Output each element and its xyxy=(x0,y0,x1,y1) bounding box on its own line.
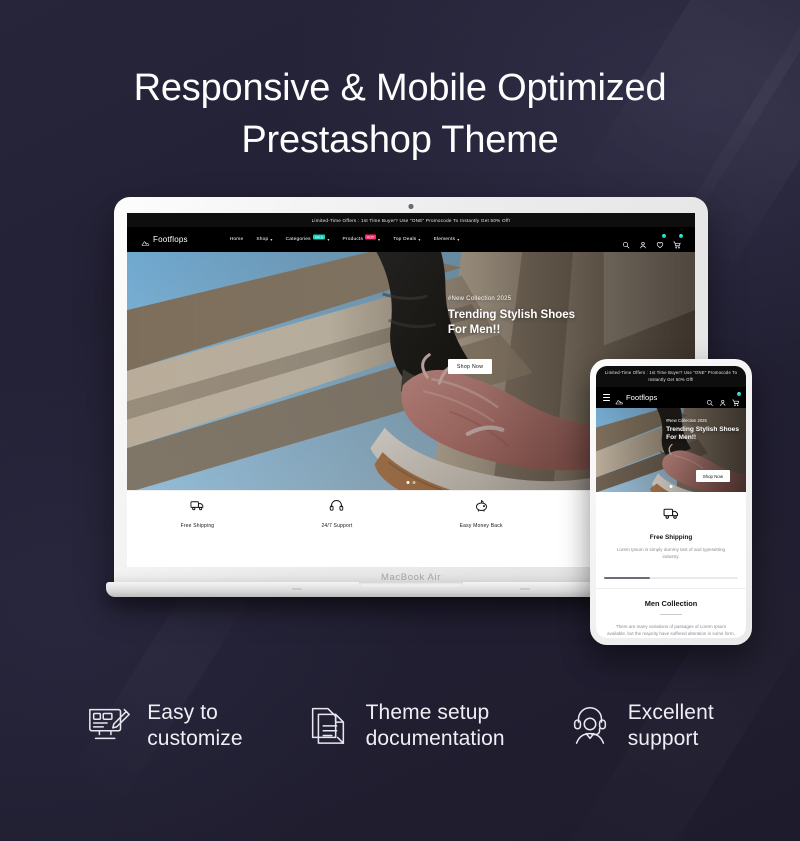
support-agent-icon xyxy=(567,701,613,752)
wishlist-heart-icon[interactable]: 0 xyxy=(656,236,664,244)
nav-label: Categories xyxy=(286,237,311,242)
mobile-slider-dot-active[interactable] xyxy=(670,485,673,488)
cart-count-badge: 0 xyxy=(737,392,741,396)
benefit-label-line-1: Excellent xyxy=(628,700,714,726)
mobile-shop-now-button[interactable]: Shop Now xyxy=(696,470,730,482)
headline-line-1: Responsive & Mobile Optimized xyxy=(0,62,800,114)
nav-badge-hot: Hot xyxy=(365,234,376,239)
cart-icon[interactable]: 0 xyxy=(673,236,681,244)
mobile-hero-title-line-2: For Men!! xyxy=(666,434,739,442)
feature-label: 24/7 Support xyxy=(321,523,352,529)
feature-label: Free Shipping xyxy=(181,523,215,529)
cart-count-badge: 0 xyxy=(679,234,683,238)
cart-icon[interactable]: 0 xyxy=(732,394,740,402)
wishlist-count-badge: 0 xyxy=(662,234,666,238)
desktop-main-menu: Home Shop ▾ Categories Sale ▾ Products xyxy=(230,237,460,242)
slider-dot-active[interactable] xyxy=(407,481,410,484)
promo-banner-page: Responsive & Mobile Optimized Prestashop… xyxy=(0,0,800,841)
nav-item-home[interactable]: Home xyxy=(230,237,244,242)
shoe-logo-icon xyxy=(141,235,150,244)
mobile-feature-card: Free Shipping Lorem Ipsum is simply dumm… xyxy=(596,492,746,568)
feature-free-shipping: Free Shipping xyxy=(181,498,215,529)
documents-icon xyxy=(305,701,351,752)
mobile-promo-bar: Limited-Time Offers : 1st Time Buyer? Us… xyxy=(596,366,746,387)
nav-label: Home xyxy=(230,237,244,242)
nav-item-top-deals[interactable]: Top Deals ▾ xyxy=(393,237,420,242)
mobile-hero-title: Trending Stylish Shoes For Men!! xyxy=(666,426,739,442)
feature-support: 24/7 Support xyxy=(321,498,352,529)
nav-label: Elements xyxy=(434,237,456,242)
truck-icon xyxy=(190,498,205,518)
slider-dot[interactable] xyxy=(413,481,416,484)
feature-label: Easy Money Back xyxy=(460,523,503,529)
mobile-header-icons: 0 xyxy=(706,394,740,402)
nav-badge-sale: Sale xyxy=(313,234,326,239)
benefit-label-line-2: customize xyxy=(147,726,242,752)
search-icon[interactable] xyxy=(622,236,630,244)
nav-item-elements[interactable]: Elements ▾ xyxy=(434,237,460,242)
benefit-excellent-support: Excellent support xyxy=(567,700,714,752)
user-icon[interactable] xyxy=(719,394,727,402)
nav-label: Top Deals xyxy=(393,237,416,242)
mobile-hero-title-line-1: Trending Stylish Shoes xyxy=(666,426,739,434)
mobile-site-logo[interactable]: Footflops xyxy=(615,393,657,402)
headline-line-2: Prestashop Theme xyxy=(0,114,800,166)
desktop-navbar: Footflops Home Shop ▾ Categories Sale xyxy=(127,227,695,252)
nav-item-categories[interactable]: Categories Sale ▾ xyxy=(286,237,330,242)
hero-title-line-1: Trending Stylish Shoes xyxy=(448,308,575,323)
mobile-site-screen: Limited-Time Offers : 1st Time Buyer? Us… xyxy=(596,366,746,638)
benefit-label-line-1: Easy to xyxy=(147,700,242,726)
headset-icon xyxy=(329,498,344,518)
hero-copy: #New Collection 2025 Trending Stylish Sh… xyxy=(448,296,575,374)
piggy-bank-icon xyxy=(474,498,489,518)
page-headline: Responsive & Mobile Optimized Prestashop… xyxy=(0,62,800,166)
site-logo[interactable]: Footflops xyxy=(141,235,188,244)
nav-item-products[interactable]: Products Hot ▾ xyxy=(343,237,381,242)
title-underline xyxy=(660,614,682,615)
mobile-hero-eyebrow: #New Collection 2025 xyxy=(666,418,739,423)
hero-title: Trending Stylish Shoes For Men!! xyxy=(448,308,575,337)
mobile-collection-description: There are many variations of passages of… xyxy=(607,623,735,638)
chevron-down-icon: ▾ xyxy=(378,237,380,242)
user-icon[interactable] xyxy=(639,236,647,244)
shoe-logo-icon xyxy=(615,393,624,402)
nav-label: Products xyxy=(343,237,364,242)
site-brand-name: Footflops xyxy=(153,235,188,244)
laptop-foot xyxy=(520,588,530,590)
phone-frame: Limited-Time Offers : 1st Time Buyer? Us… xyxy=(590,359,752,645)
mobile-collection-section: Men Collection There are many variations… xyxy=(596,589,746,638)
mobile-navbar: Footflops xyxy=(596,387,746,408)
hero-title-line-2: For Men!! xyxy=(448,323,575,338)
phone-mockup: Limited-Time Offers : 1st Time Buyer? Us… xyxy=(590,359,752,645)
webcam-icon xyxy=(409,204,414,209)
nav-label: Shop xyxy=(256,237,268,242)
benefit-label: Easy to customize xyxy=(147,700,242,752)
search-icon[interactable] xyxy=(706,394,714,402)
nav-item-shop[interactable]: Shop ▾ xyxy=(256,237,272,242)
mobile-feature-title: Free Shipping xyxy=(608,534,734,541)
benefit-label: Theme setup documentation xyxy=(366,700,505,752)
mobile-hero-copy: #New Collection 2025 Trending Stylish Sh… xyxy=(666,418,739,442)
chevron-down-icon: ▾ xyxy=(418,237,420,242)
benefit-label: Excellent support xyxy=(628,700,714,752)
chevron-down-icon: ▾ xyxy=(270,237,272,242)
laptop-foot xyxy=(292,588,302,590)
mobile-collection-title: Men Collection xyxy=(607,599,735,608)
chevron-down-icon: ▾ xyxy=(327,237,329,242)
monitor-brush-icon xyxy=(86,701,132,752)
benefit-easy-to-customize: Easy to customize xyxy=(86,700,242,752)
desktop-header-icons: 0 0 xyxy=(622,236,681,244)
benefit-label-line-1: Theme setup xyxy=(366,700,505,726)
hero-eyebrow: #New Collection 2025 xyxy=(448,296,575,302)
hero-slider-dots[interactable] xyxy=(407,481,416,484)
feature-money-back: Easy Money Back xyxy=(460,498,503,529)
truck-icon xyxy=(663,509,680,526)
mobile-feature-description: Lorem Ipsum is simply dummy text of and … xyxy=(608,546,734,560)
benefits-row: Easy to customize Theme setup documentat… xyxy=(0,700,800,752)
hero-shop-now-button[interactable]: Shop Now xyxy=(448,359,492,374)
chevron-down-icon: ▾ xyxy=(457,237,459,242)
benefit-label-line-2: documentation xyxy=(366,726,505,752)
scrollbar-thumb[interactable] xyxy=(604,577,650,579)
desktop-promo-bar: Limited-Time Offers : 1st Time Buyer? Us… xyxy=(127,213,695,227)
mobile-carousel-scrollbar[interactable] xyxy=(604,577,738,579)
hamburger-menu-icon[interactable] xyxy=(603,394,610,401)
mobile-brand-name: Footflops xyxy=(626,393,657,402)
mobile-hero-slider: #New Collection 2025 Trending Stylish Sh… xyxy=(596,408,746,492)
benefit-theme-documentation: Theme setup documentation xyxy=(305,700,505,752)
benefit-label-line-2: support xyxy=(628,726,714,752)
